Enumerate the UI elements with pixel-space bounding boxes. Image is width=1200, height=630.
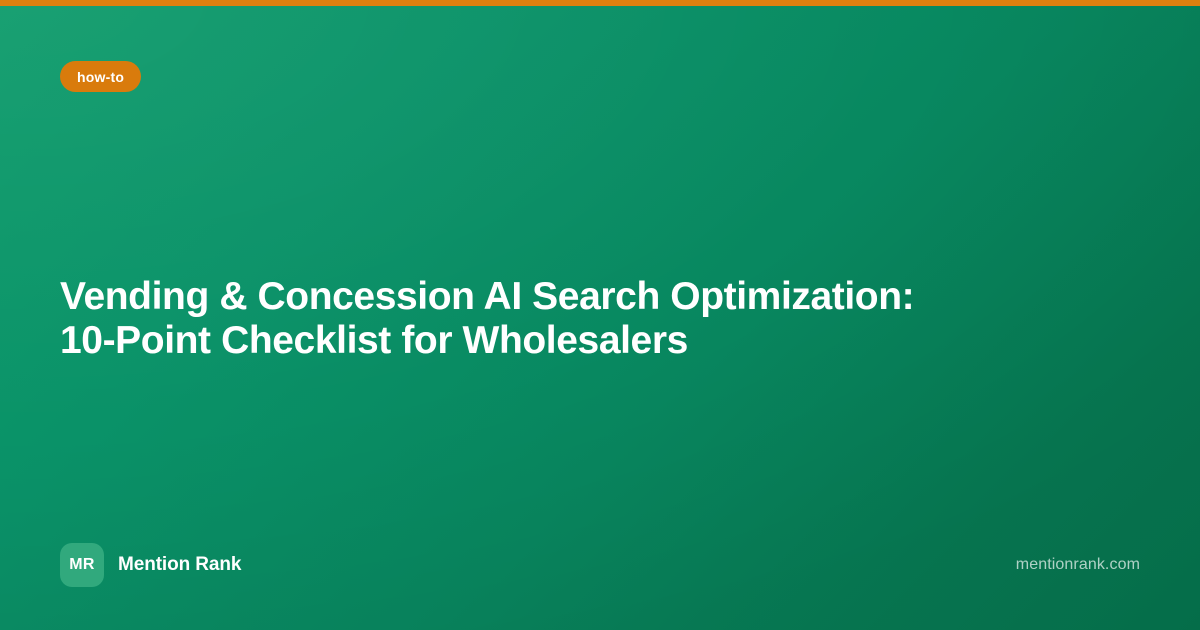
top-accent-bar — [0, 0, 1200, 6]
page-title: Vending & Concession AI Search Optimizat… — [60, 275, 970, 363]
brand-logo-icon: MR — [60, 543, 104, 587]
social-share-card: how-to Vending & Concession AI Search Op… — [0, 0, 1200, 630]
card-content: how-to Vending & Concession AI Search Op… — [0, 0, 1200, 630]
category-badge[interactable]: how-to — [60, 61, 141, 92]
site-url[interactable]: mentionrank.com — [1016, 556, 1140, 574]
brand-lockup[interactable]: MR Mention Rank — [60, 543, 241, 587]
card-footer: MR Mention Rank mentionrank.com — [60, 542, 1140, 588]
brand-name: Mention Rank — [118, 554, 241, 576]
